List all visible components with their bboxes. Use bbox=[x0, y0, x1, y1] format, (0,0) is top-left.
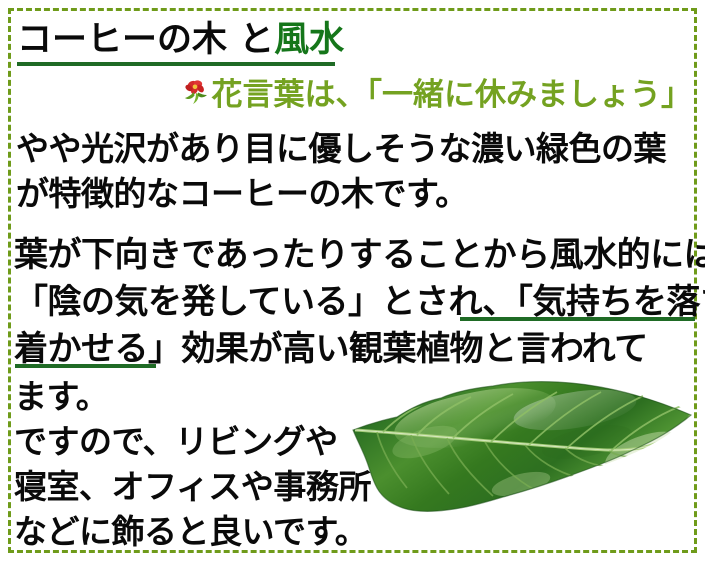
page-title-black-part: コーヒーの木 と bbox=[17, 20, 274, 60]
paragraph-intro-line-1: やや光沢があり目に優しそうな濃い緑色の葉 bbox=[16, 126, 666, 171]
paragraph-placement: ます。 ですので、リビングや 寝室、オフィスや事務所 などに飾ると良いです。 bbox=[14, 374, 371, 554]
paragraph-placement-line-3: 寝室、オフィスや事務所 bbox=[14, 464, 371, 509]
flower-icon bbox=[181, 76, 211, 106]
paragraph-intro-line-2: が特徴的なコーヒーの木です。 bbox=[16, 171, 666, 216]
subtitle-flower-language: 花言葉は、「一緒に休みましょう」 bbox=[0, 74, 700, 120]
paragraph-intro: やや光沢があり目に優しそうな濃い緑色の葉 が特徴的なコーヒーの木です。 bbox=[16, 126, 666, 216]
content-area: コーヒーの木 と風水 bbox=[0, 0, 705, 561]
infographic-page: コーヒーの木 と風水 bbox=[0, 0, 705, 561]
paragraph-placement-line-2: ですので、リビングや bbox=[14, 419, 371, 464]
subtitle-text: 花言葉は、「一緒に休みましょう」 bbox=[212, 77, 693, 113]
coffee-plant-leaf-photo bbox=[325, 372, 697, 524]
underline-kimochi bbox=[460, 317, 695, 321]
paragraph-fengshui-line-1: 葉が下向きであったりすることから風水的には bbox=[14, 232, 705, 279]
paragraph-placement-line-1: ます。 bbox=[14, 374, 371, 419]
title-underline-rule bbox=[17, 62, 335, 66]
underline-tsukaseru bbox=[15, 364, 156, 368]
page-title-green-part: 風水 bbox=[274, 20, 344, 60]
paragraph-placement-line-4: などに飾ると良いです。 bbox=[14, 509, 371, 554]
paragraph-fengshui: 葉が下向きであったりすることから風水的には 「陰の気を発している」とされ、「気持… bbox=[14, 232, 705, 373]
